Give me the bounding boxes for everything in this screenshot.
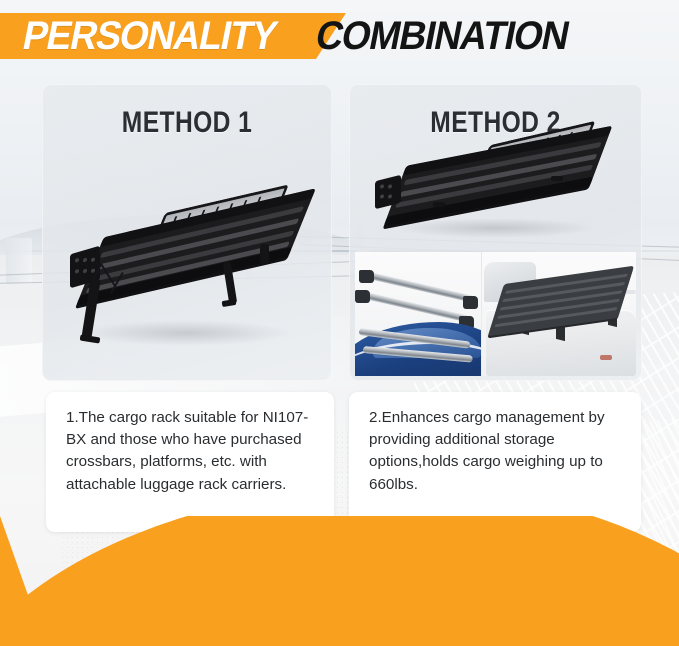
method-2-sub-image-crossbars [355,252,481,376]
crossbar-foot [463,296,478,309]
method-1-product-image [64,192,316,352]
product-shadow [82,320,292,346]
crossbar-foot [359,270,374,283]
header-word-combination: COMBINATION [313,16,572,56]
rack-deck [384,126,613,226]
method-2-product-image [373,132,623,242]
method-2-text-card: 2.Enhances cargo management by providing… [349,392,641,532]
method-2-sub-image-truck [482,252,636,376]
method-1-panel: METHOD 1 [42,84,332,381]
header-word-personality: PERSONALITY [20,16,280,56]
rack-mount-bracket [260,244,269,264]
method-1-text-card: 1.The cargo rack suitable for NI107-BX a… [46,392,334,532]
method-1-title: METHOD 1 [68,106,306,140]
crossbar-foot [355,290,370,303]
method-2-description: 2.Enhances cargo management by providing… [369,407,625,496]
product-shadow [395,218,595,238]
rack-foot [222,299,237,307]
bottom-orange-sweep [0,516,679,646]
header-title: PERSONALITY COMBINATION [14,12,578,60]
rack-mount-foot [433,202,445,207]
method-1-description: 1.The cargo rack suitable for NI107-BX a… [66,407,318,496]
product-feature-graphic: PERSONALITY COMBINATION METHOD 1 [0,0,679,646]
truck-taillight [600,355,612,360]
method-2-panel: METHOD 2 [349,84,642,381]
background-pillar [6,238,32,284]
sweep-curve [0,516,679,646]
header: PERSONALITY COMBINATION [0,0,679,74]
rack-mount-foot [551,176,563,181]
